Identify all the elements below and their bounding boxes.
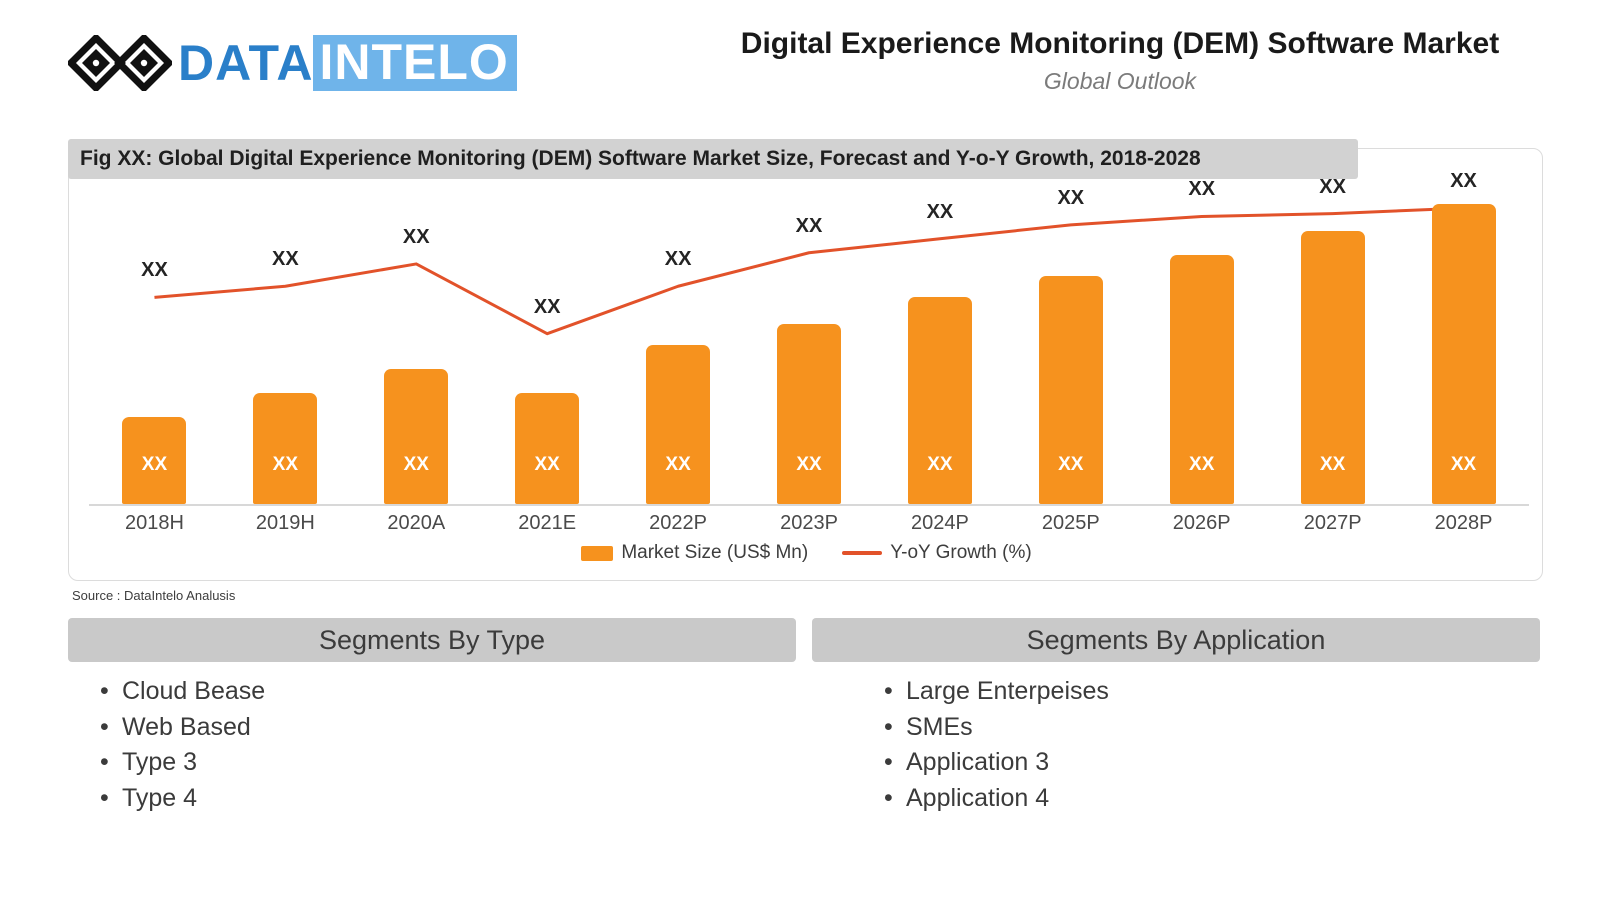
x-axis-label-2022P: 2022P [649,512,707,535]
x-axis-label-2018H: 2018H [125,512,184,535]
title-block: Digital Experience Monitoring (DEM) Soft… [700,26,1540,95]
source-note: Source : DataIntelo Analusis [72,588,235,603]
legend-item-growth: Y-oY Growth (%) [842,542,1032,564]
growth-value-label-2018H: XX [141,259,168,282]
x-axis-label-2019H: 2019H [256,512,315,535]
x-axis-label-2025P: 2025P [1042,512,1100,535]
growth-value-label-2022P: XX [665,248,692,271]
x-axis-label-2026P: 2026P [1173,512,1231,535]
growth-value-label-2028P: XX [1450,170,1477,193]
figure-caption: Fig XX: Global Digital Experience Monito… [68,139,1358,179]
x-axis-label-2024P: 2024P [911,512,969,535]
list-item: Application 4 [884,781,1540,817]
page-subtitle: Global Outlook [700,68,1540,95]
bar-2026P: XX [1170,255,1234,504]
bar-value-label: XX [908,454,972,476]
bar-2019H: XX [253,393,317,504]
bar-value-label: XX [646,454,710,476]
logo-text-intelo: INTELO [313,35,516,91]
x-axis-label-2028P: 2028P [1435,512,1493,535]
list-item: Large Enterpeises [884,674,1540,710]
x-axis-label-2027P: 2027P [1304,512,1362,535]
list-item: Web Based [100,710,796,746]
bar-value-label: XX [777,454,841,476]
chart-panel: XX2018HXX2019HXX2020AXX2021EXX2022PXX202… [68,148,1543,581]
legend-item-market-size: Market Size (US$ Mn) [581,542,808,564]
x-axis-label-2021E: 2021E [518,512,576,535]
list-item: Cloud Bease [100,674,796,710]
list-item: Application 3 [884,745,1540,781]
segments-by-application-column: Segments By Application Large Enterpeise… [812,618,1540,816]
bar-value-label: XX [253,454,317,476]
bar-2028P: XX [1432,204,1496,504]
bar-2018H: XX [122,417,186,504]
chart-legend: Market Size (US$ Mn) Y-oY Growth (%) [69,542,1544,564]
list-item: Type 4 [100,781,796,817]
legend-label-market-size: Market Size (US$ Mn) [621,542,808,564]
bar-2022P: XX [646,345,710,504]
chart-plot-area: XX2018HXX2019HXX2020AXX2021EXX2022PXX202… [69,149,1544,582]
legend-label-growth: Y-oY Growth (%) [890,542,1032,564]
bar-value-label: XX [1432,454,1496,476]
growth-value-label-2019H: XX [272,248,299,271]
logo-text-data: DATA [178,38,313,88]
growth-value-label-2027P: XX [1319,176,1346,199]
growth-value-label-2020A: XX [403,226,430,249]
bar-2023P: XX [777,324,841,504]
bar-value-label: XX [1301,454,1365,476]
growth-value-label-2026P: XX [1188,178,1215,201]
bar-value-label: XX [384,454,448,476]
bar-2024P: XX [908,297,972,504]
growth-value-label-2024P: XX [927,201,954,224]
bar-swatch-icon [581,546,613,561]
segments-by-application-list: Large EnterpeisesSMEsApplication 3Applic… [812,674,1540,816]
page-header: DATA INTELO Digital Experience Monitorin… [0,0,1600,122]
list-item: Type 3 [100,745,796,781]
bar-value-label: XX [515,454,579,476]
x-axis-label-2020A: 2020A [387,512,445,535]
bar-2020A: XX [384,369,448,504]
double-diamond-icon [68,35,172,91]
segments-by-type-list: Cloud BeaseWeb BasedType 3Type 4 [68,674,796,816]
line-swatch-icon [842,551,882,555]
x-axis-line [89,504,1529,506]
bar-value-label: XX [1170,454,1234,476]
segments-by-type-heading: Segments By Type [68,618,796,662]
segments-by-type-column: Segments By Type Cloud BeaseWeb BasedTyp… [68,618,796,816]
growth-value-label-2023P: XX [796,215,823,238]
segments-by-application-heading: Segments By Application [812,618,1540,662]
bar-2025P: XX [1039,276,1103,504]
segments-section: Segments By Type Cloud BeaseWeb BasedTyp… [68,618,1543,816]
dataintelo-logo: DATA INTELO [68,32,517,94]
page-title: Digital Experience Monitoring (DEM) Soft… [700,26,1540,62]
bar-value-label: XX [122,454,186,476]
list-item: SMEs [884,710,1540,746]
bar-2021E: XX [515,393,579,504]
x-axis-label-2023P: 2023P [780,512,838,535]
bar-2027P: XX [1301,231,1365,504]
growth-value-label-2021E: XX [534,296,561,319]
growth-value-label-2025P: XX [1057,187,1084,210]
report-infographic-page: DATA INTELO Digital Experience Monitorin… [0,0,1600,900]
bar-value-label: XX [1039,454,1103,476]
